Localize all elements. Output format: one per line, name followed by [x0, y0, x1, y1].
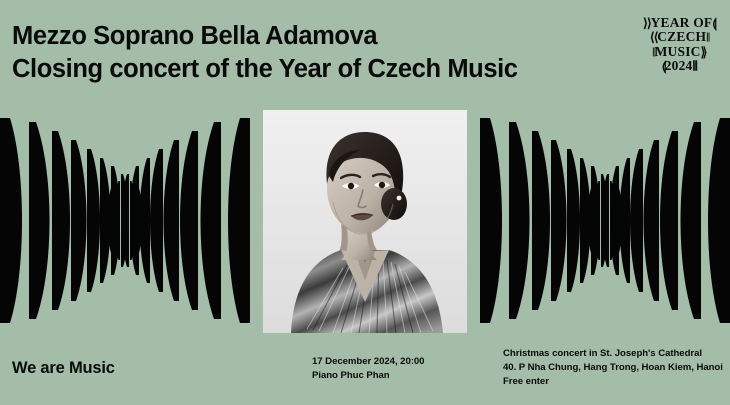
venue-title: Christmas concert in St. Joseph's Cathed… [503, 347, 723, 361]
logo-mark-right-4: ⦀ [692, 59, 696, 73]
logo-line-czech: ⟨⟨CZECH‖ [637, 30, 721, 44]
logo-text-3: MUSIC [655, 44, 701, 59]
logo-line-2024: ⟬2024⦀ [637, 59, 721, 73]
concert-poster: Mezzo Soprano Bella Adamova Closing conc… [0, 0, 730, 405]
logo-mark-right-3: ⟫ [701, 45, 706, 59]
headline-line-1: Mezzo Soprano Bella Adamova [12, 22, 377, 50]
logo-line-music: ‖MUSIC⟫ [637, 45, 721, 59]
soundwave-graphic-right [480, 118, 730, 323]
venue-info: Christmas concert in St. Joseph's Cathed… [503, 347, 723, 389]
artist-portrait-illustration [263, 110, 467, 333]
page-title: Mezzo Soprano Bella Adamova Closing conc… [12, 20, 612, 85]
soundwave-right-mirror-bars [480, 118, 628, 323]
venue-address: 40. P Nha Chung, Hang Trong, Hoan Kiem, … [503, 361, 723, 375]
year-of-czech-music-logo: ⟩⟩YEAR OF⟬ ⟨⟨CZECH‖ ‖MUSIC⟫ ⟬2024⦀ [637, 16, 721, 73]
logo-mark-left-2: ⟨⟨ [649, 31, 657, 45]
soundwave-left-svg [0, 118, 250, 323]
event-datetime: 17 December 2024, 20:00 [312, 355, 424, 369]
logo-text-4: 2024 [665, 58, 693, 73]
logo-line-year-of: ⟩⟩YEAR OF⟬ [637, 16, 721, 30]
tagline: We are Music [12, 359, 115, 378]
logo-mark-left-3: ‖ [652, 45, 654, 59]
event-performer: Piano Phuc Phan [312, 369, 424, 383]
venue-admission: Free enter [503, 375, 723, 389]
logo-mark-right-2: ‖ [706, 31, 708, 45]
logo-mark-left-4: ⟬ [662, 59, 665, 73]
logo-mark-left-1: ⟩⟩ [643, 16, 651, 30]
headline-line-2: Closing concert of the Year of Czech Mus… [12, 53, 612, 86]
logo-text-2: CZECH [657, 29, 706, 44]
event-info: 17 December 2024, 20:00 Piano Phuc Phan [312, 355, 424, 383]
logo-text-1: YEAR OF [651, 15, 713, 30]
soundwave-left-mirror-bars [102, 118, 250, 323]
soundwave-graphic-left [0, 118, 250, 323]
artist-portrait [263, 110, 467, 333]
soundwave-right-svg [480, 118, 730, 323]
logo-mark-right-1: ⟬ [712, 16, 715, 30]
